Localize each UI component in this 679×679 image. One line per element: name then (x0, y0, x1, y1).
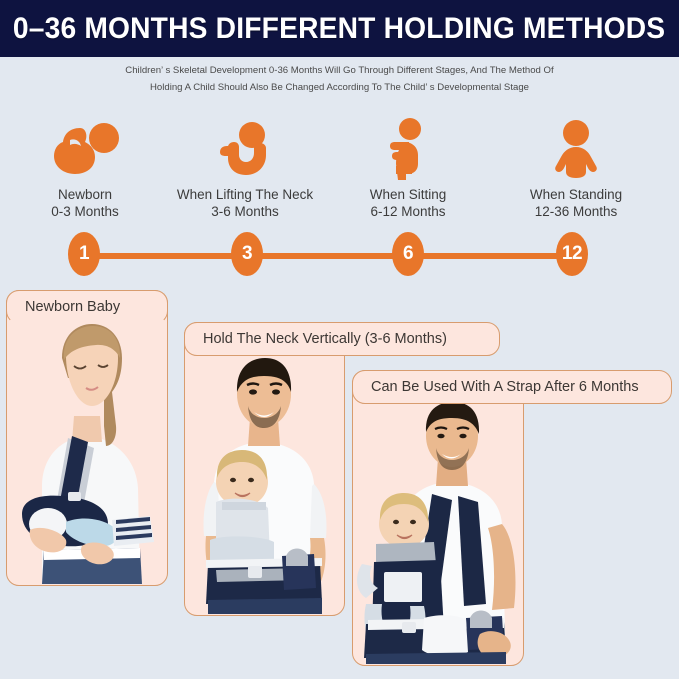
stage-title: When Lifting The Neck (177, 187, 313, 202)
card-newborn-photo (8, 318, 166, 584)
stage-label-lifting-neck: When Lifting The Neck 3-6 Months (160, 186, 330, 220)
card-newborn-header: Newborn Baby (6, 290, 168, 324)
stage-title: Newborn (58, 187, 112, 202)
stage-label-newborn: Newborn 0-3 Months (10, 186, 160, 220)
standing-icon (496, 118, 656, 180)
stage-lifting-neck: When Lifting The Neck 3-6 Months (160, 118, 330, 220)
card-strap-label: Can Be Used With A Strap After 6 Months (353, 379, 639, 395)
stage-title: When Standing (530, 187, 622, 202)
stage-months: 0-3 Months (10, 203, 160, 220)
card-strap-header: Can Be Used With A Strap After 6 Months (352, 370, 672, 404)
card-neck-vertical-header: Hold The Neck Vertically (3-6 Months) (184, 322, 500, 356)
page-title: 0–36 MONTHS DIFFERENT HOLDING METHODS (13, 12, 665, 46)
timeline-node-12[interactable]: 12 (556, 232, 588, 276)
timeline-node-3[interactable]: 3 (231, 232, 263, 276)
subtitle-block: Children’ s Skeletal Development 0-36 Mo… (0, 62, 679, 96)
stage-label-standing: When Standing 12-36 Months (496, 186, 656, 220)
timeline-node-6[interactable]: 6 (392, 232, 424, 276)
sitting-icon (333, 118, 483, 180)
newborn-curled-icon (10, 118, 160, 180)
subtitle-line-2: Holding A Child Should Also Be Changed A… (0, 79, 679, 96)
stage-standing: When Standing 12-36 Months (496, 118, 656, 220)
stage-newborn: Newborn 0-3 Months (10, 118, 160, 220)
stage-row: Newborn 0-3 Months When Lifting The Neck… (0, 118, 679, 218)
stage-title: When Sitting (370, 187, 447, 202)
lifting-neck-icon (160, 118, 330, 180)
subtitle-line-1: Children’ s Skeletal Development 0-36 Mo… (0, 62, 679, 79)
card-neck-vertical-photo (186, 350, 343, 614)
stage-sitting: When Sitting 6-12 Months (333, 118, 483, 220)
stage-months: 6-12 Months (333, 203, 483, 220)
stage-months: 12-36 Months (496, 203, 656, 220)
stage-label-sitting: When Sitting 6-12 Months (333, 186, 483, 220)
card-neck-vertical-label: Hold The Neck Vertically (3-6 Months) (185, 331, 447, 347)
card-strap-photo (354, 398, 522, 664)
timeline-node-1[interactable]: 1 (68, 232, 100, 276)
timeline: 1 3 6 12 (0, 232, 679, 280)
infographic-page: 0–36 MONTHS DIFFERENT HOLDING METHODS Ch… (0, 0, 679, 679)
stage-months: 3-6 Months (160, 203, 330, 220)
timeline-rail (72, 253, 582, 259)
header-banner: 0–36 MONTHS DIFFERENT HOLDING METHODS (0, 0, 679, 57)
card-newborn-label: Newborn Baby (7, 299, 120, 315)
